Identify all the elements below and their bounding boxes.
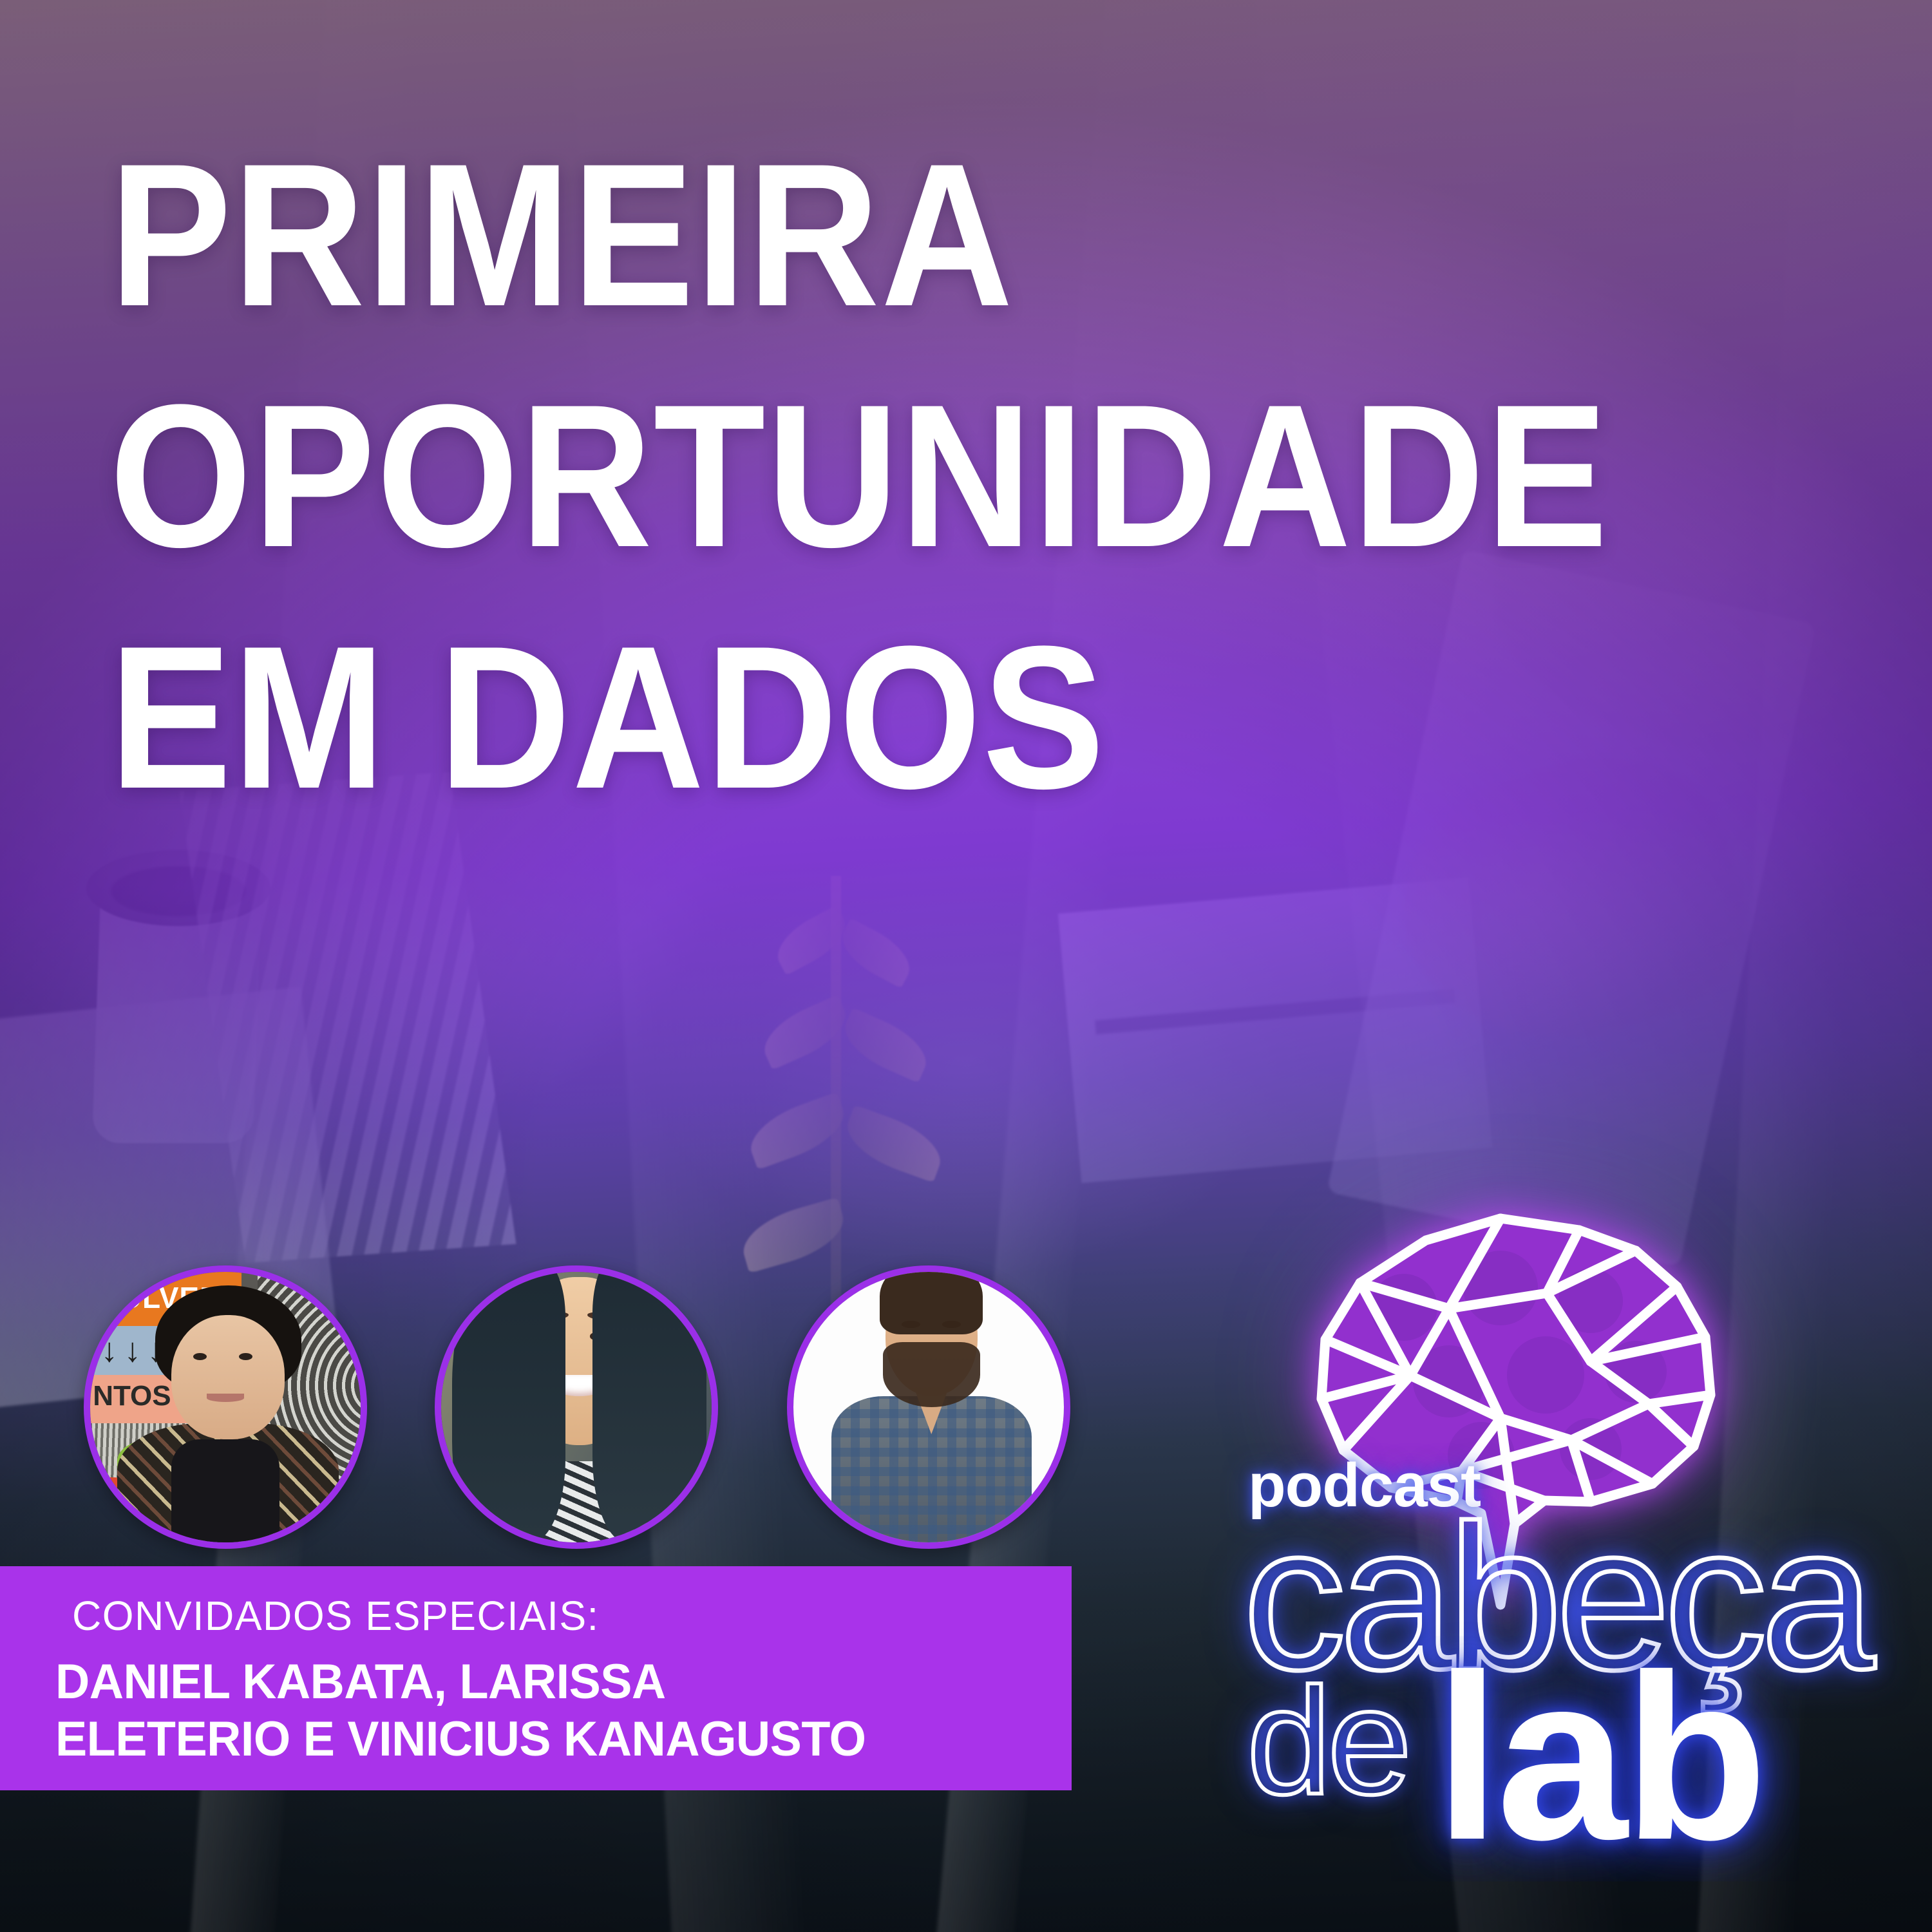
episode-title: PRIMEIRA OPORTUNIDADE EM DADOS <box>109 115 1651 838</box>
guests-banner-label: CONVIDADOS ESPECIAIS: <box>72 1592 600 1640</box>
guests-banner: CONVIDADOS ESPECIAIS: DANIEL KABATA, LAR… <box>0 1566 1072 1790</box>
podcast-cover: PRIMEIRA OPORTUNIDADE EM DADOS VOLVER ↓↓… <box>0 0 1932 1932</box>
guests-banner-names: DANIEL KABATA, LARISSA ELETERIO E VINICI… <box>55 1654 1018 1768</box>
avatar-guest-1[interactable]: VOLVER ↓↓↓ NTOS <box>84 1265 367 1549</box>
podcast-logo[interactable]: podcast cabeça de lab <box>1243 1211 1906 1893</box>
logo-word-lab: lab <box>1435 1640 1764 1875</box>
avatar-image-2 <box>441 1272 712 1542</box>
avatar-guest-3[interactable] <box>787 1265 1070 1549</box>
logo-word-de: de <box>1247 1665 1408 1817</box>
avatar-image-1: VOLVER ↓↓↓ NTOS <box>90 1272 361 1542</box>
avatar-guest-2[interactable] <box>435 1265 718 1549</box>
avatar-image-3 <box>793 1272 1064 1542</box>
